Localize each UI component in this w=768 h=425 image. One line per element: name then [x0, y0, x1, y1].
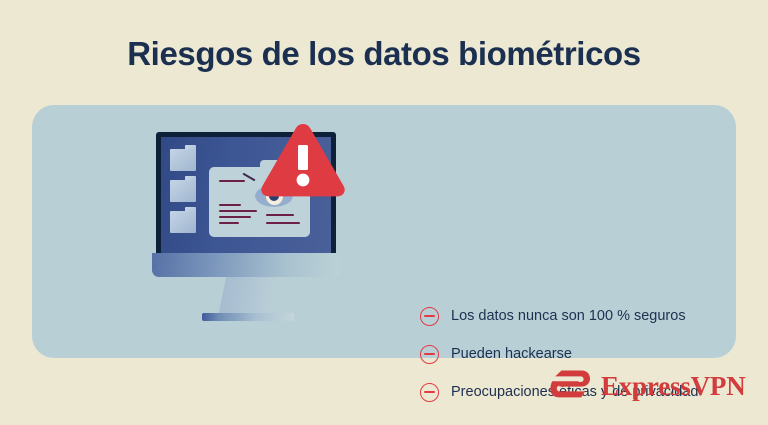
card-text-line	[219, 210, 257, 212]
expressvpn-logo: ExpressVPN	[549, 366, 746, 406]
screen-folder-list	[170, 149, 196, 242]
minus-circle-icon	[420, 383, 439, 402]
card-text-line	[266, 222, 300, 224]
card-text-line	[219, 204, 241, 206]
infographic-canvas: Riesgos de los datos biométricos	[0, 0, 768, 425]
card-text-line	[219, 222, 239, 224]
card-text-line	[219, 180, 245, 182]
minus-circle-icon	[420, 345, 439, 364]
warning-triangle-icon	[258, 120, 348, 200]
monitor-base	[202, 313, 294, 321]
folder-icon	[170, 211, 196, 233]
logo-wordmark: ExpressVPN	[601, 371, 746, 401]
list-item-label: Los datos nunca son 100 % seguros	[451, 307, 686, 325]
expressvpn-e-mark-icon	[549, 369, 591, 403]
monitor-bezel	[152, 253, 340, 277]
folder-icon	[170, 180, 196, 202]
content-panel: Los datos nunca son 100 % seguros Pueden…	[32, 105, 736, 358]
minus-circle-icon	[420, 307, 439, 326]
list-item-label: Pueden hackearse	[451, 345, 572, 363]
monitor-stand	[218, 277, 276, 317]
folder-icon	[170, 149, 196, 171]
card-text-line	[266, 214, 294, 216]
page-title: Riesgos de los datos biométricos	[0, 34, 768, 74]
monitor-illustration	[128, 120, 388, 345]
card-text-line	[219, 216, 251, 218]
list-item: Los datos nunca son 100 % seguros	[420, 297, 750, 335]
